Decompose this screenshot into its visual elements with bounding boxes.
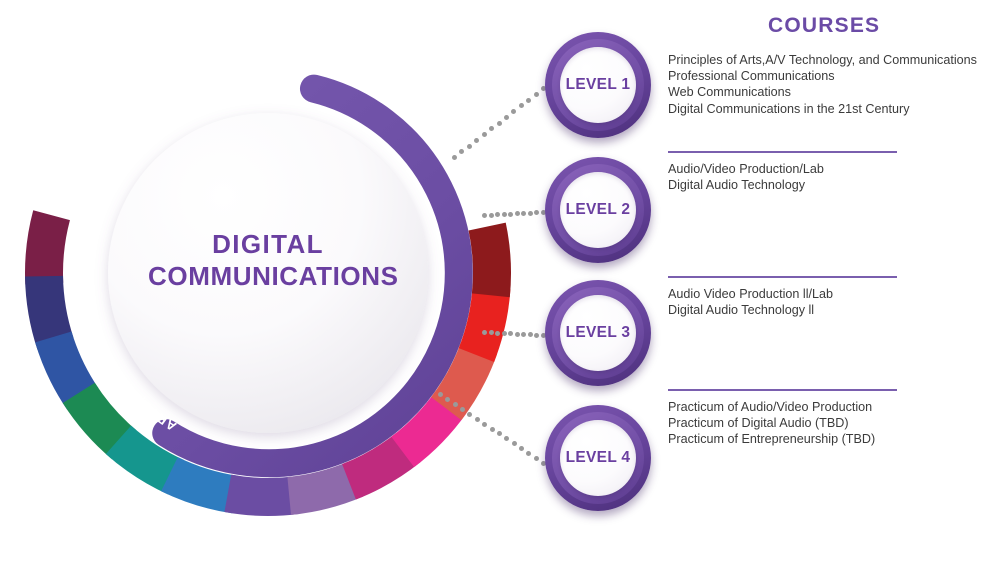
connector-dot: [534, 210, 539, 215]
level-4-label: LEVEL 4: [566, 449, 631, 467]
cluster-segment[interactable]: [469, 223, 511, 298]
connector-dot: [495, 331, 500, 336]
connector-dot: [521, 332, 526, 337]
connector-dot: [504, 115, 509, 120]
connector-dot: [489, 330, 494, 335]
level-node-3[interactable]: LEVEL 3: [545, 280, 651, 386]
connector-dot: [482, 213, 487, 218]
divider-level-3: [668, 276, 897, 278]
connector-dot: [489, 213, 494, 218]
course-item: Principles of Arts,A/V Technology, and C…: [668, 52, 968, 68]
level-4-inner-disc: LEVEL 4: [560, 420, 636, 496]
connector-dot: [482, 330, 487, 335]
course-item: Practicum of Entrepreneurship (TBD): [668, 431, 968, 447]
connector-dot: [528, 332, 533, 337]
course-item: Professional Communications: [668, 68, 968, 84]
center-title-line1: DIGITAL: [148, 228, 388, 260]
course-item: Practicum of Audio/Video Production: [668, 399, 968, 415]
connector-dot: [515, 332, 520, 337]
connector-dot: [475, 417, 480, 422]
center-title-line2: COMMUNICATIONS: [148, 260, 388, 292]
connector-dot: [482, 132, 487, 137]
course-item: Digital Audio Technology ll: [668, 302, 968, 318]
connector-dot: [508, 212, 513, 217]
level-2-inner-disc: LEVEL 2: [560, 172, 636, 248]
courses-heading: COURSES: [768, 14, 880, 38]
connector-dot: [497, 121, 502, 126]
center-title: DIGITAL COMMUNICATIONS: [148, 228, 388, 292]
connector-dot: [534, 456, 539, 461]
cluster-segment[interactable]: [25, 210, 70, 284]
level-node-2[interactable]: LEVEL 2: [545, 157, 651, 263]
infographic-canvas: ARTS, A/V TECHNOLOGY AND COMMUNICATIONS …: [0, 0, 1000, 563]
connector-dot: [502, 212, 507, 217]
course-item: Practicum of Digital Audio (TBD): [668, 415, 968, 431]
connector-dot: [534, 333, 539, 338]
career-cluster-wheel: ARTS, A/V TECHNOLOGY AND COMMUNICATIONS …: [0, 0, 520, 563]
connector-dot: [519, 103, 524, 108]
course-item: Digital Communications in the 21st Centu…: [668, 101, 968, 117]
level-3-inner-disc: LEVEL 3: [560, 295, 636, 371]
course-list-level-2: Audio/Video Production/LabDigital Audio …: [668, 161, 968, 193]
connector-dot: [460, 407, 465, 412]
connector-dot: [467, 144, 472, 149]
divider-level-4: [668, 389, 897, 391]
connector-dot: [526, 451, 531, 456]
connector-dot: [482, 422, 487, 427]
level-1-label: LEVEL 1: [566, 76, 631, 94]
course-item: Audio Video Production ll/Lab: [668, 286, 968, 302]
connector-dot: [534, 92, 539, 97]
connector-dot: [452, 155, 457, 160]
connector-dot: [474, 138, 479, 143]
level-node-4[interactable]: LEVEL 4: [545, 405, 651, 511]
level-3-label: LEVEL 3: [566, 324, 631, 342]
divider-level-2: [668, 151, 897, 153]
course-list-level-3: Audio Video Production ll/LabDigital Aud…: [668, 286, 968, 318]
connector-dot: [526, 98, 531, 103]
course-list-level-1: Principles of Arts,A/V Technology, and C…: [668, 52, 968, 117]
level-2-label: LEVEL 2: [566, 201, 631, 219]
level-1-inner-disc: LEVEL 1: [560, 47, 636, 123]
level-node-1[interactable]: LEVEL 1: [545, 32, 651, 138]
connector-dot: [528, 211, 533, 216]
course-item: Digital Audio Technology: [668, 177, 968, 193]
connector-dot: [490, 427, 495, 432]
course-list-level-4: Practicum of Audio/Video ProductionPract…: [668, 399, 968, 448]
course-item: Audio/Video Production/Lab: [668, 161, 968, 177]
connector-dot: [438, 392, 443, 397]
connector-dot: [512, 441, 517, 446]
connector-dot: [453, 402, 458, 407]
course-item: Web Communications: [668, 84, 968, 100]
connector-dot: [502, 331, 507, 336]
connector-dot: [521, 211, 526, 216]
connector-dot: [519, 446, 524, 451]
